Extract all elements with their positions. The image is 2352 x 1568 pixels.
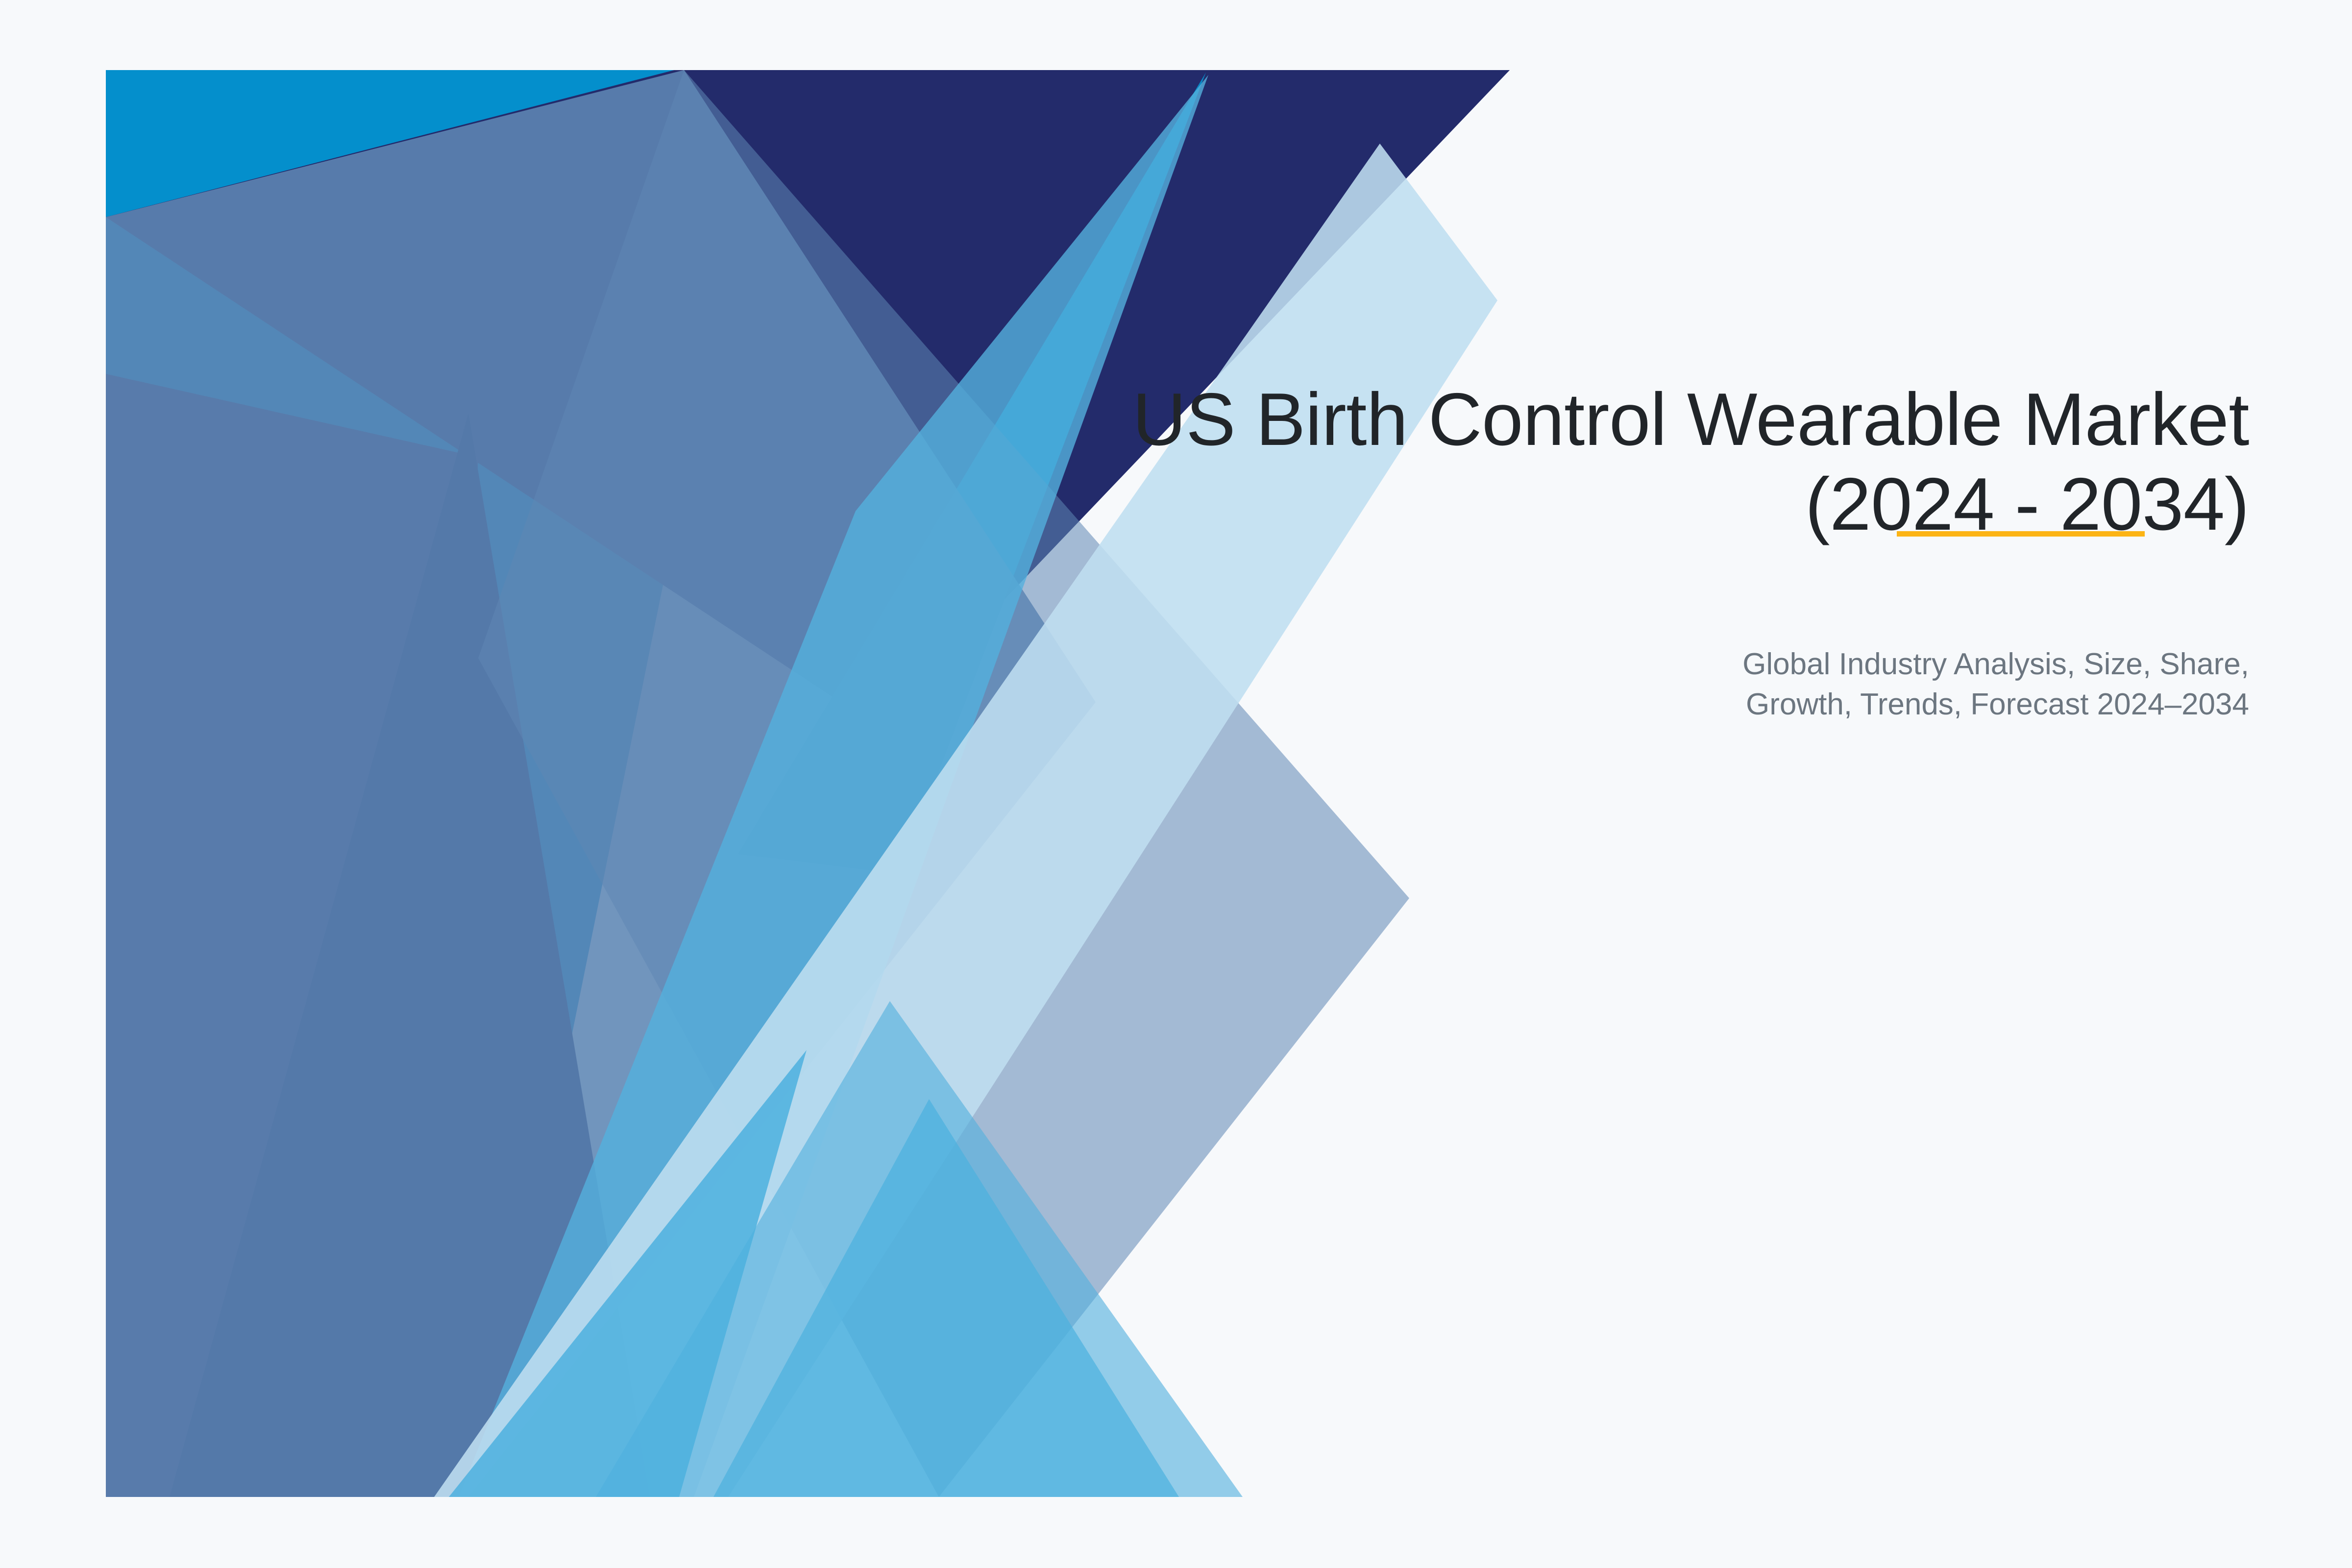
- artwork-panel: [106, 70, 1537, 1497]
- cover-slide: US Birth Control Wearable Market (2024 -…: [0, 0, 2352, 1568]
- page-title: US Birth Control Wearable Market (2024 -…: [931, 377, 2249, 547]
- page-subtitle: Global Industry Analysis, Size, Share, G…: [1269, 644, 2249, 725]
- title-block: US Birth Control Wearable Market (2024 -…: [931, 377, 2249, 547]
- abstract-geometric-artwork: [106, 70, 1537, 1497]
